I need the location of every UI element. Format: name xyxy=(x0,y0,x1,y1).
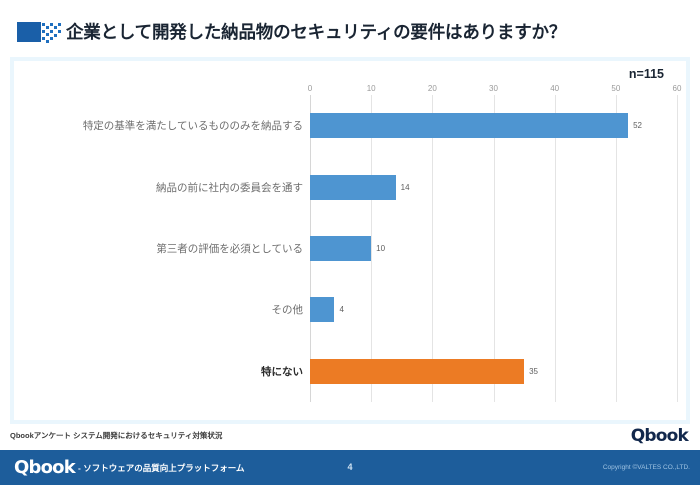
bar-value-label: 52 xyxy=(633,121,642,130)
pixel-block-solid xyxy=(17,22,41,42)
qbook-logo: Qbook xyxy=(631,426,688,446)
chart-panel: n=115 0102030405060 特定の基準を満たしているもののみを納品す… xyxy=(14,61,686,420)
footer-qbook-logo: Qbook xyxy=(14,457,75,478)
bar-rows: 特定の基準を満たしているもののみを納品する52納品の前に社内の委員会を通す14第… xyxy=(14,95,686,402)
chart-panel-frame: n=115 0102030405060 特定の基準を満たしているもののみを納品す… xyxy=(10,57,690,424)
category-label: その他 xyxy=(23,302,303,317)
x-tick-label: 60 xyxy=(673,84,682,93)
page-title: 企業として開発した納品物のセキュリティの要件はありますか？ xyxy=(66,19,566,44)
bar-value-label: 35 xyxy=(529,367,538,376)
slide: 企業として開発した納品物のセキュリティの要件はありますか？ n=115 0102… xyxy=(0,0,700,485)
bar-row: その他4 xyxy=(14,279,686,340)
bar xyxy=(310,297,334,322)
bar-track: 10 xyxy=(310,218,686,279)
bar xyxy=(310,236,371,261)
footer-tagline: - ソフトウェアの品質向上プラットフォーム xyxy=(78,462,244,474)
bar-row: 納品の前に社内の委員会を通す14 xyxy=(14,156,686,217)
bar-value-label: 14 xyxy=(401,183,410,192)
bar xyxy=(310,113,628,138)
category-label: 第三者の評価を必須としている xyxy=(23,241,303,256)
copyright-text: Copyright ©VALTES CO.,LTD. xyxy=(603,464,690,471)
category-label: 納品の前に社内の委員会を通す xyxy=(23,180,303,195)
pixel-block-icon xyxy=(17,22,61,42)
bar-row: 特定の基準を満たしているもののみを納品する52 xyxy=(14,95,686,156)
bar xyxy=(310,359,524,384)
bar-row: 特にない35 xyxy=(14,341,686,402)
x-tick-label: 20 xyxy=(428,84,437,93)
bar-value-label: 10 xyxy=(376,244,385,253)
title-bar: 企業として開発した納品物のセキュリティの要件はありますか？ xyxy=(0,0,700,58)
page-number: 4 xyxy=(347,462,352,472)
bar-row: 第三者の評価を必須としている10 xyxy=(14,218,686,279)
category-label: 特にない xyxy=(23,364,303,379)
footer-bar: Qbook - ソフトウェアの品質向上プラットフォーム 4 Copyright … xyxy=(0,450,700,485)
bar-track: 52 xyxy=(310,95,686,156)
bar-track: 14 xyxy=(310,156,686,217)
x-tick-label: 30 xyxy=(489,84,498,93)
bar-track: 4 xyxy=(310,279,686,340)
bar-track: 35 xyxy=(310,341,686,402)
bar-value-label: 4 xyxy=(339,305,343,314)
x-tick-label: 0 xyxy=(308,84,312,93)
category-label: 特定の基準を満たしているもののみを納品する xyxy=(23,118,303,133)
bar xyxy=(310,175,396,200)
source-caption: Qbookアンケート システム開発におけるセキュリティ対策状況 xyxy=(10,430,222,441)
x-tick-label: 10 xyxy=(367,84,376,93)
caption-strip: Qbookアンケート システム開発におけるセキュリティ対策状況 Qbook xyxy=(0,425,700,450)
x-tick-label: 40 xyxy=(550,84,559,93)
x-tick-label: 50 xyxy=(611,84,620,93)
